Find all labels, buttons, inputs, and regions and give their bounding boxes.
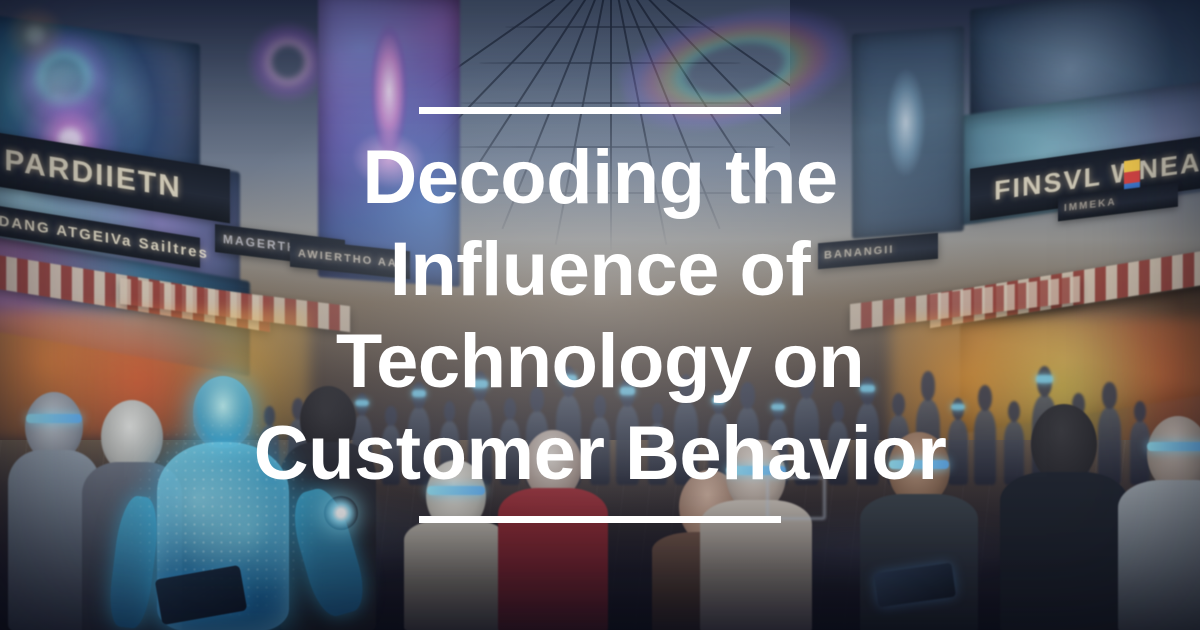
divider-bottom (419, 516, 781, 523)
hero-banner: E PARDIIETN MCTDANG ATGEIVa Sailtres MAG… (0, 0, 1200, 630)
title-line-3: Technology on (336, 319, 864, 404)
divider-top (419, 107, 781, 114)
title-overlay: Decoding the Influence of Technology on … (0, 0, 1200, 630)
title-line-1: Decoding the (362, 135, 837, 220)
title-line-2: Influence of (390, 227, 810, 312)
title-line-4: Customer Behavior (254, 411, 947, 496)
page-title: Decoding the Influence of Technology on … (254, 132, 947, 500)
